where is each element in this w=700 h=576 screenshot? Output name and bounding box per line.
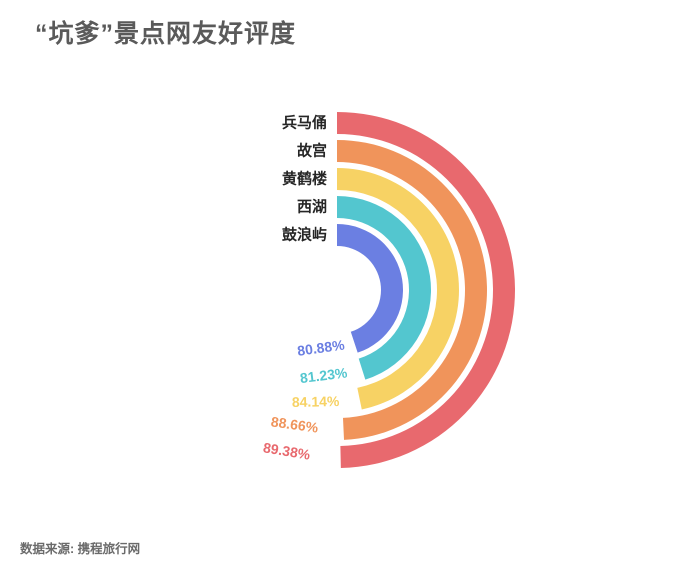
chart-container: “坑爹”景点网友好评度 兵马俑故宫黄鹤楼西湖鼓浪屿 89.38%88.66%84… — [0, 0, 700, 576]
category-label-1: 兵马俑 — [282, 114, 327, 132]
category-label-2: 故宫 — [297, 142, 327, 160]
category-label-4: 西湖 — [297, 199, 327, 216]
category-label-3: 黄鹤楼 — [282, 170, 327, 188]
value-labels-group: 89.38%88.66%84.14%81.23%80.88% — [262, 336, 349, 462]
value-label-2: 88.66% — [270, 413, 320, 435]
value-label-4: 81.23% — [299, 364, 349, 386]
category-labels-group: 兵马俑故宫黄鹤楼西湖鼓浪屿 — [282, 114, 327, 244]
value-label-1: 89.38% — [262, 439, 312, 463]
value-label-3: 84.14% — [292, 393, 340, 410]
value-label-5: 80.88% — [296, 336, 346, 358]
category-label-5: 鼓浪屿 — [282, 226, 327, 244]
radial-bar-chart: 兵马俑故宫黄鹤楼西湖鼓浪屿 89.38%88.66%84.14%81.23%80… — [0, 0, 700, 576]
chart-title: “坑爹”景点网友好评度 — [35, 14, 296, 50]
arc-series-group — [337, 112, 515, 468]
chart-source-note: 数据来源: 携程旅行网 — [20, 538, 140, 557]
